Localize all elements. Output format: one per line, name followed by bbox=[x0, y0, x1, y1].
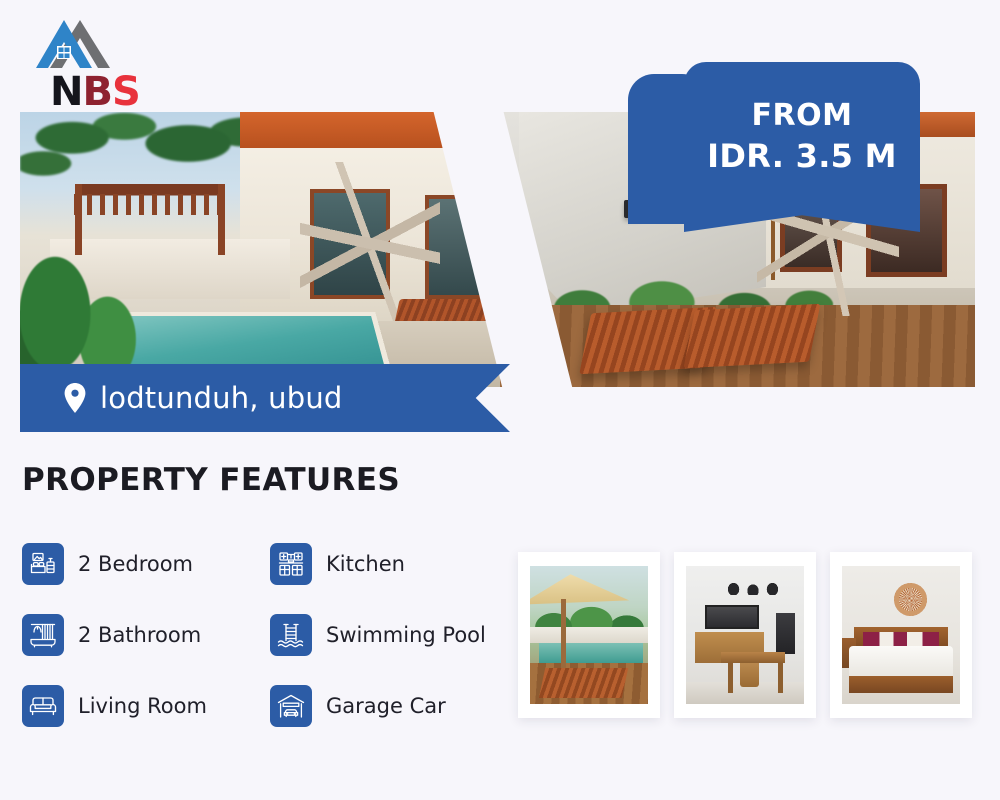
thumbnail-bedroom[interactable] bbox=[830, 552, 972, 718]
sofa-icon bbox=[22, 685, 64, 727]
location-text: lodtunduh, ubud bbox=[100, 381, 343, 415]
property-features-list: 2 Bedroom Kitchen bbox=[22, 528, 502, 741]
feature-swimming-pool: Swimming Pool bbox=[270, 599, 502, 670]
feature-living-room: Living Room bbox=[22, 670, 254, 741]
brand-logo: NBS bbox=[28, 18, 158, 110]
brand-letter-s: S bbox=[112, 69, 140, 115]
feature-bathroom: 2 Bathroom bbox=[22, 599, 254, 670]
page-title: PROPERTY FEATURES bbox=[22, 462, 400, 498]
thumbnail-pool[interactable] bbox=[518, 552, 660, 718]
feature-bedroom: 2 Bedroom bbox=[22, 528, 254, 599]
garage-car-icon bbox=[270, 685, 312, 727]
brand-letter-b: B bbox=[82, 69, 112, 115]
feature-label: Living Room bbox=[78, 694, 207, 718]
feature-label: Kitchen bbox=[326, 552, 405, 576]
feature-kitchen: Kitchen bbox=[270, 528, 502, 599]
house-roof-logo-icon bbox=[36, 18, 131, 70]
price-from-label: FROM bbox=[752, 98, 853, 133]
brand-wordmark: NBS bbox=[50, 72, 140, 112]
price-banner: FROM IDR. 3.5 M bbox=[628, 62, 920, 224]
feature-label: Garage Car bbox=[326, 694, 446, 718]
price-value: IDR. 3.5 M bbox=[707, 137, 897, 175]
feature-label: Swimming Pool bbox=[326, 623, 486, 647]
brand-letter-n: N bbox=[50, 69, 82, 115]
feature-label: 2 Bathroom bbox=[78, 623, 201, 647]
gallery-thumbnails bbox=[518, 552, 972, 718]
kitchen-icon bbox=[270, 543, 312, 585]
feature-garage-car: Garage Car bbox=[270, 670, 502, 741]
feature-label: 2 Bedroom bbox=[78, 552, 193, 576]
map-pin-icon bbox=[64, 383, 86, 413]
bed-icon bbox=[22, 543, 64, 585]
pool-ladder-icon bbox=[270, 614, 312, 656]
thumbnail-dining[interactable] bbox=[674, 552, 816, 718]
flyer-page: NBS bbox=[0, 0, 1000, 800]
location-ribbon: lodtunduh, ubud bbox=[20, 364, 510, 432]
bathtub-icon bbox=[22, 614, 64, 656]
